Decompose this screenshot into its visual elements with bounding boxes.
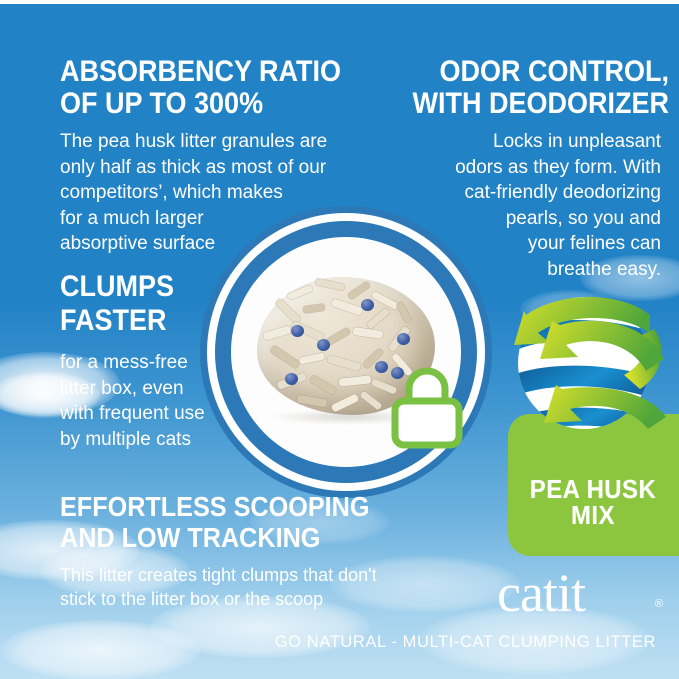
brand-tagline: GO NATURAL - MULTI-CAT CLUMPING LITTER bbox=[0, 633, 656, 652]
deodorizing-pearl bbox=[375, 361, 388, 373]
feature-body-clumps-faster: for a mess-free litter box, even with fr… bbox=[60, 350, 205, 452]
padlock-icon bbox=[389, 363, 465, 449]
feature-body-absorbency: The pea husk litter granules are only ha… bbox=[60, 129, 327, 257]
feature-heading-absorbency: ABSORBENCY RATIO OF UP TO 300% bbox=[60, 56, 341, 120]
product-infographic: PEA HUSK MIX bbox=[0, 0, 679, 679]
deodorizing-pearl bbox=[361, 299, 374, 311]
top-white-strip bbox=[0, 0, 679, 4]
registered-trademark-symbol: ® bbox=[655, 599, 663, 610]
feature-heading-clumps-faster: CLUMPS FASTER bbox=[60, 270, 174, 338]
feature-body-odor-control: Locks in unpleasant odors as they form. … bbox=[409, 129, 661, 282]
feature-body-effortless-scooping: This litter creates tight clumps that do… bbox=[60, 563, 377, 611]
deodorizing-pearl bbox=[291, 325, 304, 337]
deodorizing-pearl bbox=[317, 339, 330, 351]
badge-label: PEA HUSK MIX bbox=[515, 476, 671, 528]
deodorizing-pearl bbox=[285, 373, 298, 385]
brand-wordmark: catit bbox=[497, 566, 647, 620]
deodorizing-pearl bbox=[397, 333, 410, 345]
feature-heading-effortless-scooping: EFFORTLESS SCOOPING AND LOW TRACKING bbox=[60, 491, 369, 553]
recycling-globe-icon bbox=[500, 271, 678, 449]
feature-heading-odor-control: ODOR CONTROL, WITH DEODORIZER bbox=[413, 56, 670, 120]
brand-logo: catit ® bbox=[497, 566, 663, 618]
